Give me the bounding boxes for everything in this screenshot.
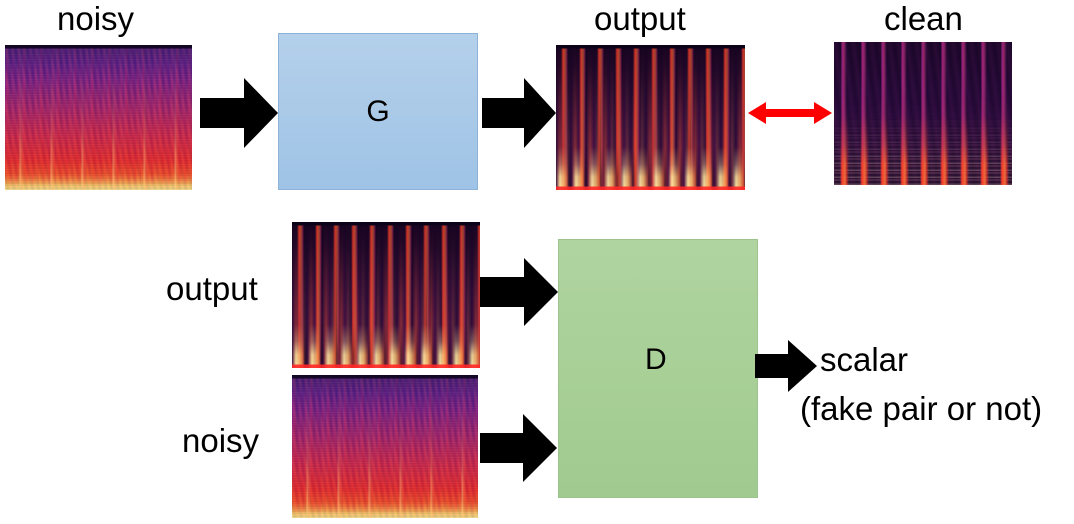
label-output-top: output bbox=[594, 2, 686, 37]
discriminator-box-label: D bbox=[645, 345, 667, 375]
arrow-output-to-discriminator bbox=[480, 258, 558, 326]
spectrogram-clean bbox=[834, 42, 1012, 185]
spectrogram-output-bottom bbox=[292, 222, 480, 368]
compare-double-arrow bbox=[748, 98, 832, 128]
label-noisy-input: noisy bbox=[57, 2, 134, 37]
label-clean: clean bbox=[884, 2, 963, 37]
spectrogram-top-edge bbox=[292, 375, 478, 518]
spectrogram-top-edge bbox=[5, 45, 192, 190]
discriminator-box[interactable]: D bbox=[558, 239, 758, 498]
arrow-noisy-to-discriminator bbox=[480, 414, 557, 482]
spectrogram-low-band-layer bbox=[834, 42, 1012, 185]
spectrogram-top-edge bbox=[556, 45, 745, 190]
generator-box-label: G bbox=[366, 97, 389, 127]
arrow-noisy-to-generator bbox=[200, 78, 278, 148]
spectrogram-noisy-bottom bbox=[292, 375, 478, 518]
diagram-canvas: noisy G output cle bbox=[0, 0, 1074, 524]
generator-box[interactable]: G bbox=[278, 33, 478, 190]
spectrogram-noisy-input bbox=[5, 45, 192, 190]
arrow-discriminator-to-scalar bbox=[755, 340, 817, 392]
spectrogram-output-top bbox=[556, 45, 745, 190]
spectrogram-top-edge bbox=[292, 222, 480, 368]
label-scalar: scalar bbox=[820, 343, 908, 378]
label-noisy-discriminator-input: noisy bbox=[182, 424, 259, 459]
label-fake-pair-or-not: (fake pair or not) bbox=[800, 392, 1042, 427]
label-output-discriminator-input: output bbox=[166, 272, 258, 307]
arrow-generator-to-output bbox=[482, 78, 556, 148]
